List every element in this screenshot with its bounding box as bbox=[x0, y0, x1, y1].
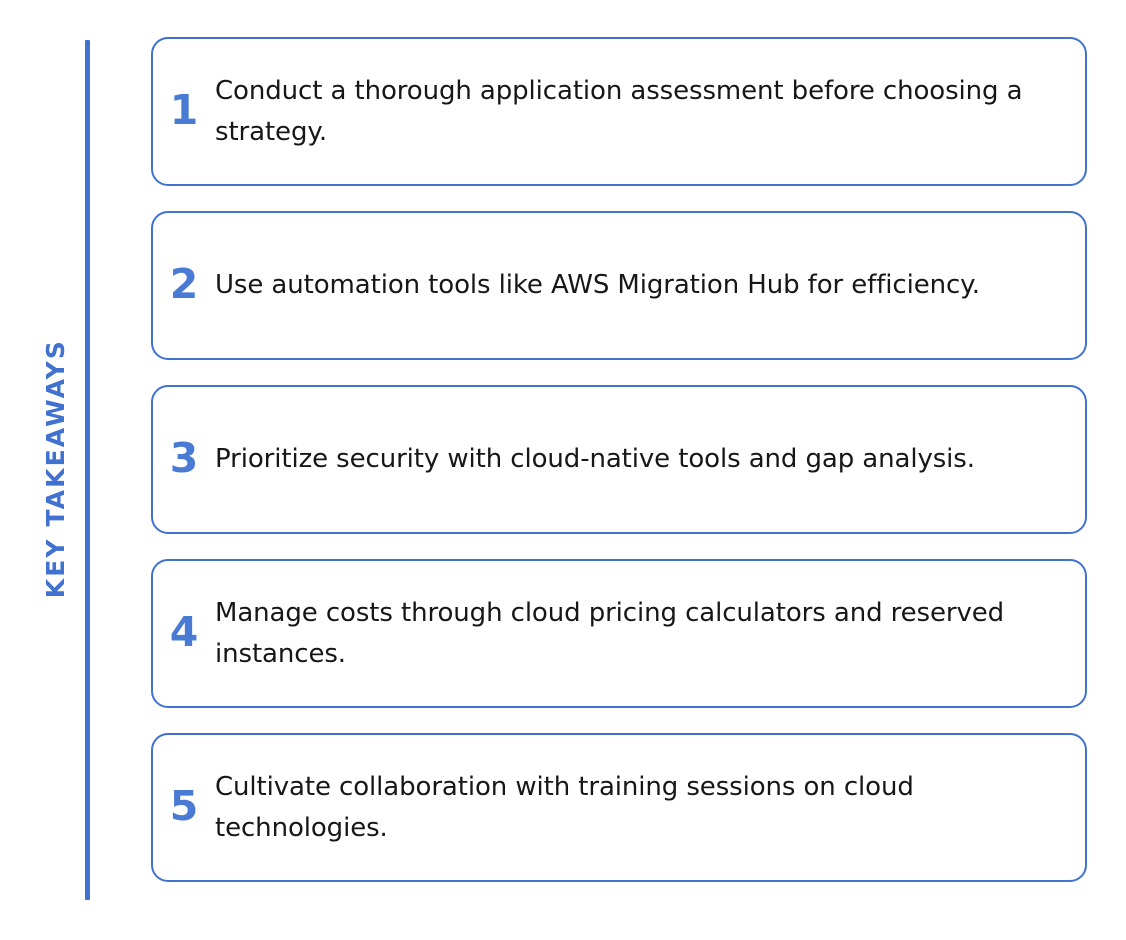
accent-vertical-rule bbox=[85, 40, 90, 900]
takeaway-card-list: 1 Conduct a thorough application assessm… bbox=[151, 37, 1087, 882]
takeaway-card-2: 2 Use automation tools like AWS Migratio… bbox=[151, 211, 1087, 360]
takeaway-text-4: Manage costs through cloud pricing calcu… bbox=[215, 593, 1059, 674]
key-takeaways-infographic: KEY TAKEAWAYS 1 Conduct a thorough appli… bbox=[0, 0, 1126, 940]
takeaway-number-4: 4 bbox=[153, 612, 215, 655]
takeaway-number-5: 5 bbox=[153, 786, 215, 829]
takeaway-card-1: 1 Conduct a thorough application assessm… bbox=[151, 37, 1087, 186]
takeaway-text-5: Cultivate collaboration with training se… bbox=[215, 767, 1059, 848]
takeaway-number-1: 1 bbox=[153, 90, 215, 133]
takeaway-number-2: 2 bbox=[153, 264, 215, 307]
side-label-container: KEY TAKEAWAYS bbox=[0, 38, 92, 900]
takeaway-card-5: 5 Cultivate collaboration with training … bbox=[151, 733, 1087, 882]
takeaway-text-1: Conduct a thorough application assessmen… bbox=[215, 71, 1059, 152]
takeaway-text-3: Prioritize security with cloud-native to… bbox=[215, 439, 1059, 479]
takeaway-card-3: 3 Prioritize security with cloud-native … bbox=[151, 385, 1087, 534]
key-takeaways-label: KEY TAKEAWAYS bbox=[43, 339, 68, 598]
takeaway-text-2: Use automation tools like AWS Migration … bbox=[215, 265, 1059, 305]
takeaway-card-4: 4 Manage costs through cloud pricing cal… bbox=[151, 559, 1087, 708]
takeaway-number-3: 3 bbox=[153, 438, 215, 481]
